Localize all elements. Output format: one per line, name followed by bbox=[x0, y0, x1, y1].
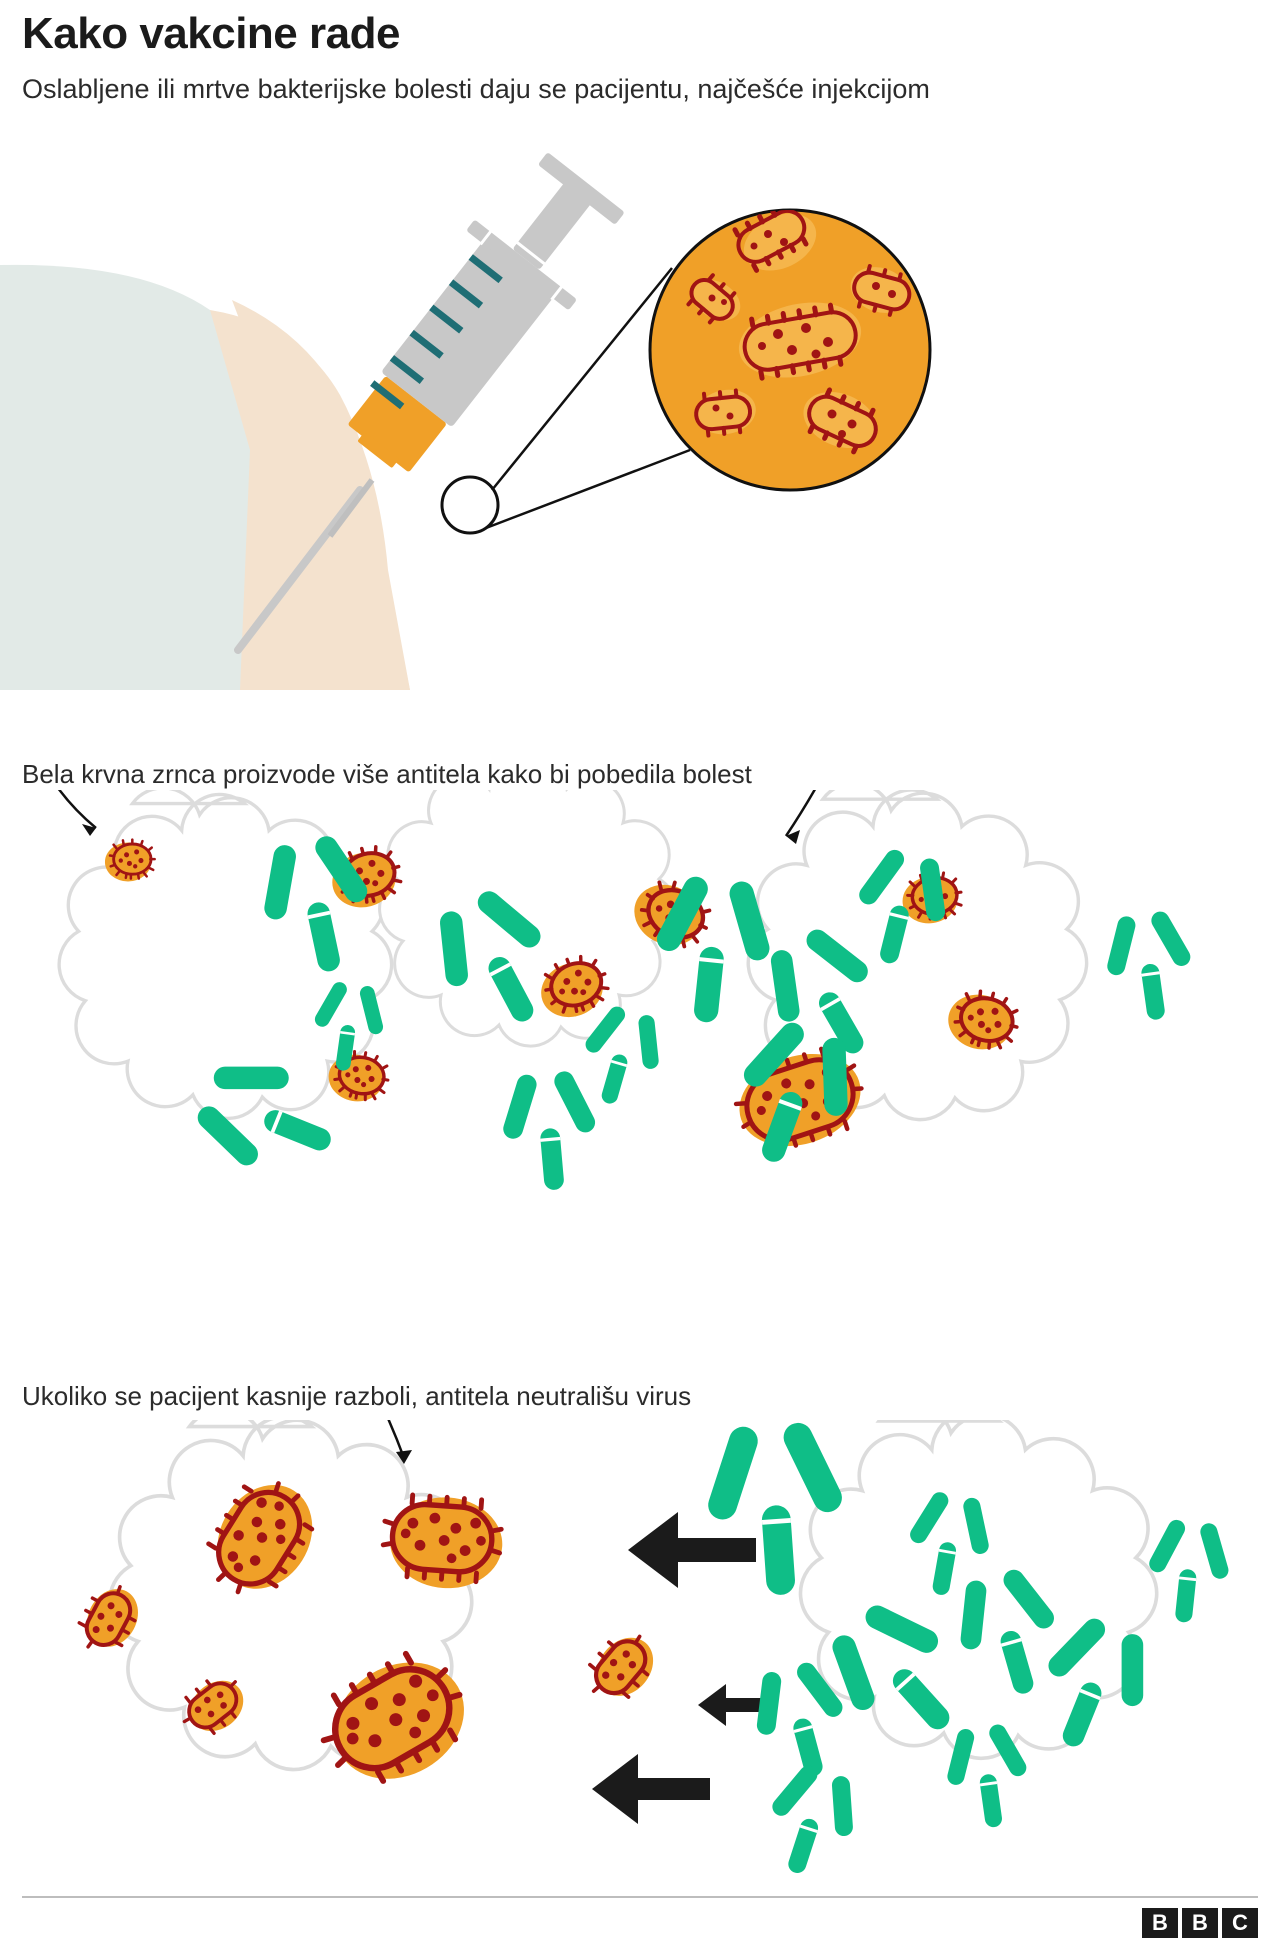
page-title: Kako vakcine rade bbox=[22, 10, 1142, 58]
infographic-page: Kako vakcine rade Oslabljene ili mrtve b… bbox=[0, 0, 1280, 1952]
arrow-large-bottom bbox=[592, 1754, 710, 1824]
bbc-letter-c: C bbox=[1222, 1908, 1258, 1938]
injection-illustration bbox=[0, 150, 1280, 710]
caption-white-blood-cells: Bela krvna zrnca proizvode više antitela… bbox=[22, 758, 752, 792]
bbc-logo: B B C bbox=[1142, 1908, 1258, 1938]
page-subtitle: Oslabljene ili mrtve bakterijske bolesti… bbox=[22, 72, 1082, 107]
caption-neutralise: Ukoliko se pacijent kasnije razboli, ant… bbox=[22, 1380, 691, 1414]
bbc-letter-b1: B bbox=[1142, 1908, 1178, 1938]
white-blood-cell-illustration bbox=[0, 790, 1280, 1350]
footer-divider bbox=[22, 1896, 1258, 1898]
neutralisation-illustration bbox=[0, 1420, 1280, 1920]
arrow-large-top bbox=[628, 1512, 756, 1588]
bbc-letter-b2: B bbox=[1182, 1908, 1218, 1938]
cell-outlines-neutralise bbox=[110, 1420, 1157, 1770]
magnified-circle bbox=[650, 200, 930, 490]
header: Kako vakcine rade Oslabljene ili mrtve b… bbox=[22, 10, 1142, 107]
white-blood-cell-outlines bbox=[59, 790, 1087, 1120]
arrow-small-middle bbox=[698, 1684, 766, 1726]
